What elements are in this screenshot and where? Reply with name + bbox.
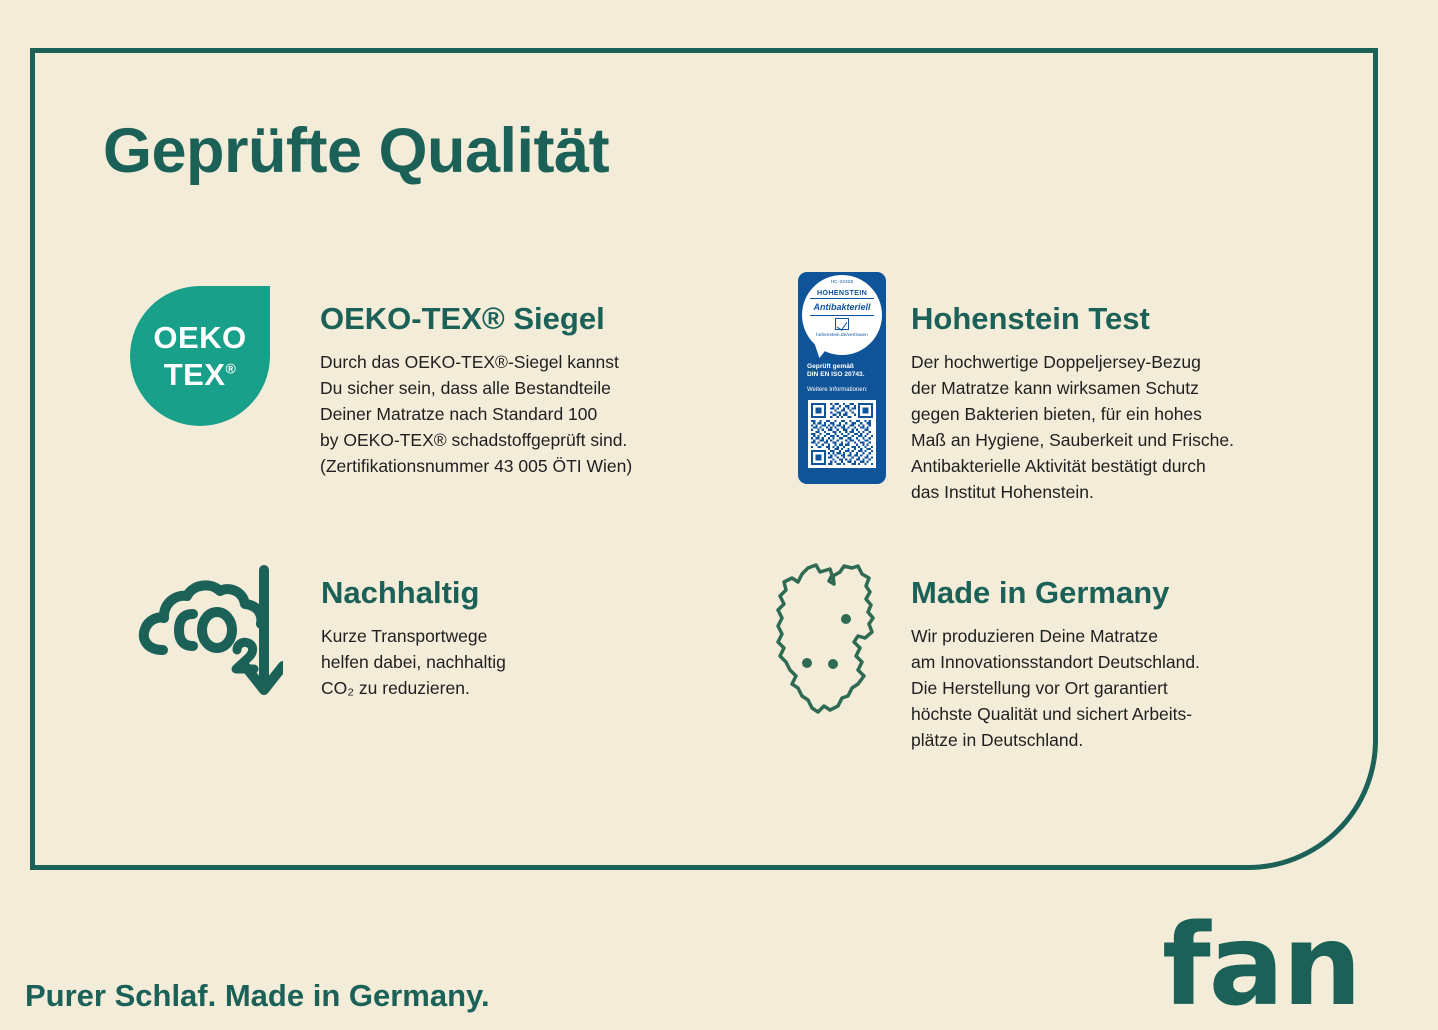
body-line: CO₂ zu reduzieren. bbox=[321, 675, 506, 701]
oeko-logo-line1: OEKO bbox=[153, 322, 246, 353]
body-line: gegen Bakterien bieten, für ein hohes bbox=[911, 401, 1234, 427]
oeko-logo-line2: TEX bbox=[164, 357, 226, 392]
badge-standard-line1: Geprüft gemäß bbox=[807, 363, 865, 371]
badge-standard: Geprüft gemäß DIN EN ISO 20743. bbox=[807, 363, 865, 380]
body-line: Deiner Matratze nach Standard 100 bbox=[320, 401, 632, 427]
hohenstein-certificate-badge: HC-34329 HOHENSTEIN Antibakteriell hohen… bbox=[798, 272, 886, 484]
feature-body-made-in-germany: Wir produzieren Deine Matratze am Innova… bbox=[911, 623, 1200, 753]
oeko-tex-droplet-logo: OEKO TEX® bbox=[130, 286, 270, 426]
body-line: das Institut Hohenstein. bbox=[911, 479, 1234, 505]
co2-cloud-down-arrow-icon bbox=[133, 562, 283, 712]
feature-heading-oeko-tex: OEKO-TEX® Siegel bbox=[320, 302, 632, 336]
body-line: Du sicher sein, dass alle Bestandteile bbox=[320, 375, 632, 401]
badge-standard-line2: DIN EN ISO 20743. bbox=[807, 371, 865, 379]
body-line: by OEKO-TEX® schadstoffgeprüft sind. bbox=[320, 427, 632, 453]
feature-heading-nachhaltig: Nachhaltig bbox=[321, 576, 506, 610]
feature-heading-hohenstein: Hohenstein Test bbox=[911, 302, 1234, 336]
feature-heading-made-in-germany: Made in Germany bbox=[911, 576, 1200, 610]
checkmark-icon bbox=[835, 318, 849, 330]
badge-more-info: Weitere Informationen: bbox=[807, 387, 868, 395]
badge-claim: Antibakteriell bbox=[798, 302, 886, 312]
brand-logo-fan: fan bbox=[1162, 910, 1360, 1022]
badge-divider bbox=[810, 298, 874, 299]
qr-code-icon bbox=[808, 400, 876, 468]
body-line: Wir produzieren Deine Matratze bbox=[911, 623, 1200, 649]
body-line: Maß an Hygiene, Sauberkeit und Frische. bbox=[911, 427, 1234, 453]
body-line: höchste Qualität und sichert Arbeits- bbox=[911, 701, 1200, 727]
page-title: Geprüfte Qualität bbox=[103, 118, 609, 184]
badge-institute-name: HOHENSTEIN bbox=[798, 288, 886, 297]
feature-body-oeko-tex: Durch das OEKO-TEX®-Siegel kannst Du sic… bbox=[320, 349, 632, 479]
badge-top-code: HC-34329 bbox=[798, 279, 886, 284]
feature-body-hohenstein: Der hochwertige Doppeljersey-Bezug der M… bbox=[911, 349, 1234, 505]
germany-map-outline-icon bbox=[772, 562, 884, 727]
body-line: plätze in Deutschland. bbox=[911, 727, 1200, 753]
footer-tagline: Purer Schlaf. Made in Germany. bbox=[25, 978, 490, 1014]
feature-body-nachhaltig: Kurze Transportwege helfen dabei, nachha… bbox=[321, 623, 506, 701]
body-line: Die Herstellung vor Ort garantiert bbox=[911, 675, 1200, 701]
body-line: Der hochwertige Doppeljersey-Bezug bbox=[911, 349, 1234, 375]
body-line: helfen dabei, nachhaltig bbox=[321, 649, 506, 675]
body-line: Antibakterielle Aktivität bestätigt durc… bbox=[911, 453, 1234, 479]
body-line: Durch das OEKO-TEX®-Siegel kannst bbox=[320, 349, 632, 375]
body-line: Kurze Transportwege bbox=[321, 623, 506, 649]
badge-divider bbox=[810, 315, 874, 316]
body-line: am Innovationsstandort Deutschland. bbox=[911, 649, 1200, 675]
badge-url: hohenstein.de/vertrauen bbox=[798, 333, 886, 338]
body-line: der Matratze kann wirksamen Schutz bbox=[911, 375, 1234, 401]
body-line: (Zertifikationsnummer 43 005 ÖTI Wien) bbox=[320, 453, 632, 479]
registered-mark-icon: ® bbox=[225, 361, 236, 377]
